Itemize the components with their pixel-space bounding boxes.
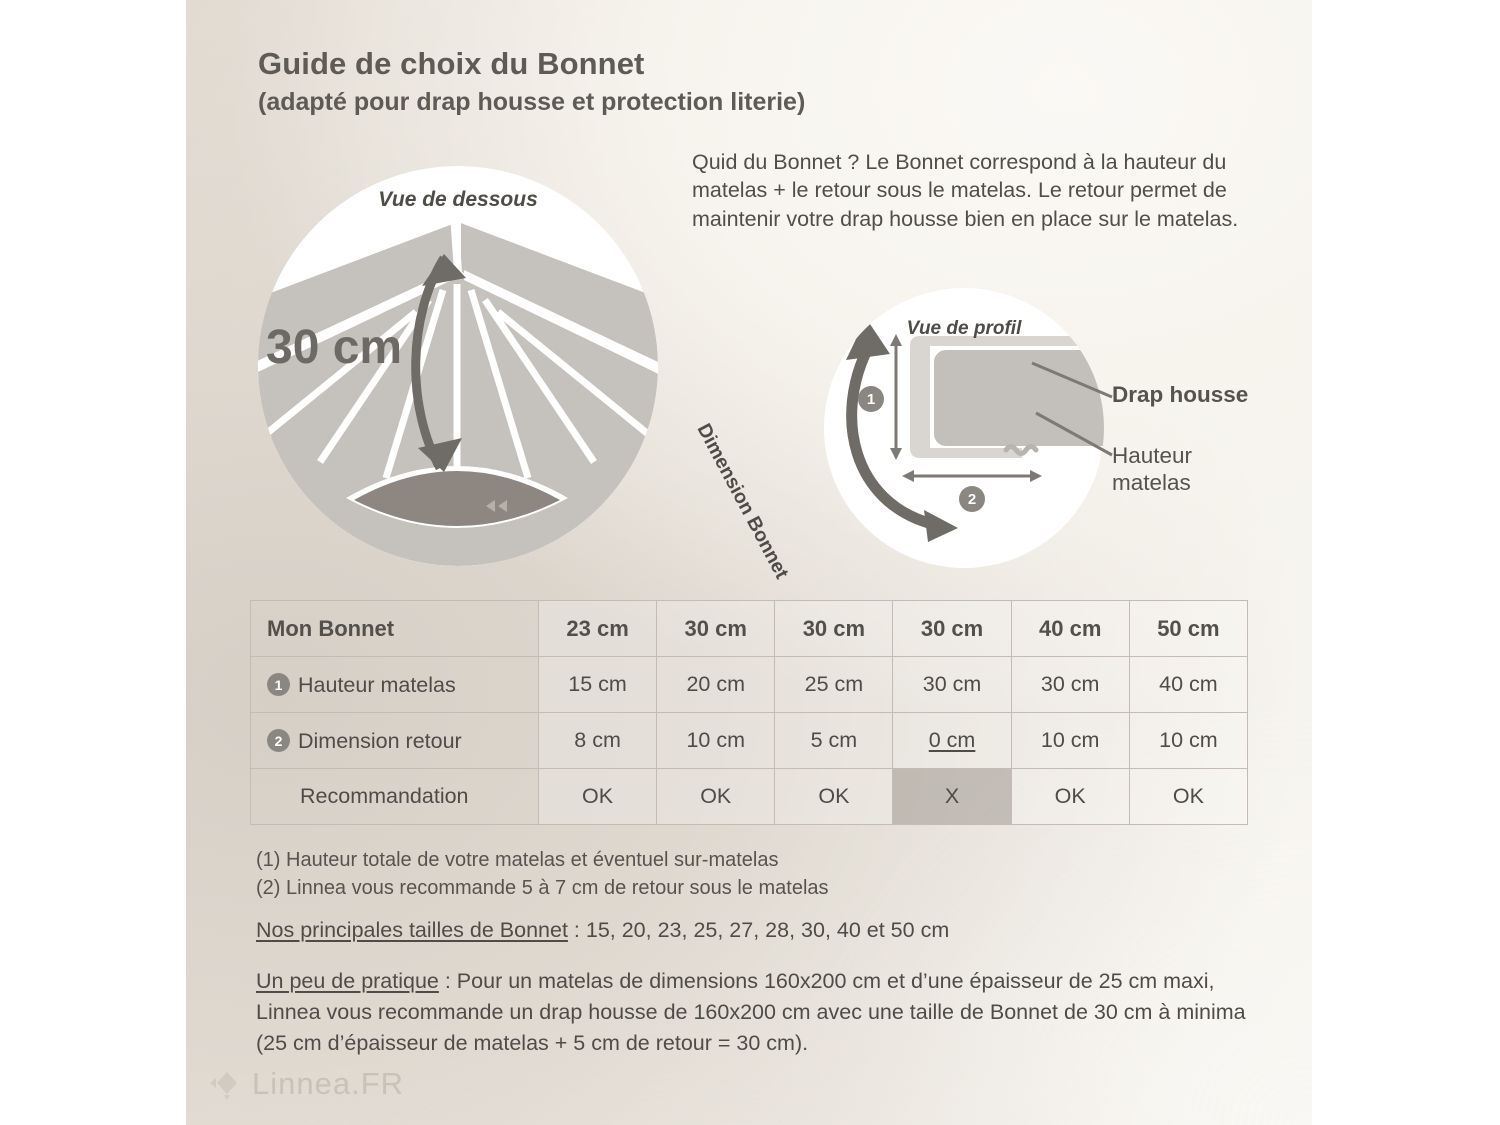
callout-drap-housse: Drap housse [1112,382,1248,408]
table-rowhead-mattress-height: 1Hauteur matelas [251,657,539,713]
bottom-view-label: Vue de dessous [258,188,658,212]
logo-text: Linnea.FR [252,1066,404,1102]
table-cell-bonnet-5: 50 cm [1129,601,1247,657]
table-cell-height-0: 15 cm [539,657,657,713]
table-cell-return-3: 0 cm [893,713,1011,769]
sizes-line: Nos principales tailles de Bonnet : 15, … [256,918,1256,943]
callout-hauteur-matelas: Hauteur matelas [1112,442,1192,496]
bottom-view-measure: 30 cm [266,320,446,375]
profile-marker-2: 2 [959,486,985,512]
practice-paragraph: Un peu de pratique : Pour un matelas de … [256,966,1256,1059]
sizes-value: : 15, 20, 23, 25, 27, 28, 30, 40 et 50 c… [568,918,949,942]
table-cell-reco-5: OK [1129,769,1247,825]
table-cell-height-1: 20 cm [657,657,775,713]
table-cell-return-2: 5 cm [775,713,893,769]
table-cell-bonnet-3: 30 cm [893,601,1011,657]
table-rowhead-bonnet: Mon Bonnet [251,601,539,657]
table-cell-height-2: 25 cm [775,657,893,713]
rowhead-label: Mon Bonnet [267,616,394,641]
table-cell-reco-0: OK [539,769,657,825]
table-cell-reco-4: OK [1011,769,1129,825]
return-underlined-value: 0 cm [929,728,976,752]
page-title: Guide de choix du Bonnet [258,48,1158,79]
brand-logo: Linnea.FR [208,1066,404,1102]
intro-paragraph: Quid du Bonnet ? Le Bonnet correspond à … [692,148,1272,233]
bonnet-table: Mon Bonnet 23 cm 30 cm 30 cm 30 cm 40 cm… [250,600,1248,825]
table-rowhead-return-dimension: 2Dimension retour [251,713,539,769]
row-badge-2: 2 [267,729,290,752]
infographic-root: Guide de choix du Bonnet (adapté pour dr… [0,0,1500,1125]
page-subtitle: (adapté pour drap housse et protection l… [258,90,1158,115]
table-cell-height-5: 40 cm [1129,657,1247,713]
sizes-label: Nos principales tailles de Bonnet [256,918,568,942]
table-cell-return-0: 8 cm [539,713,657,769]
table-cell-bonnet-4: 40 cm [1011,601,1129,657]
table-cell-return-5: 10 cm [1129,713,1247,769]
table-cell-reco-3: X [893,769,1011,825]
table-cell-height-4: 30 cm [1011,657,1129,713]
practice-label: Un peu de pratique [256,969,439,993]
callout-hauteur-line1: Hauteur [1112,442,1192,469]
rowhead-label: Hauteur matelas [298,672,456,696]
profile-marker-1: 1 [858,386,884,412]
rowhead-label: Recommandation [300,784,469,808]
table-cell-bonnet-2: 30 cm [775,601,893,657]
table-row-return-dimension: 2Dimension retour 8 cm 10 cm 5 cm 0 cm 1… [251,713,1248,769]
table-row-mattress-height: 1Hauteur matelas 15 cm 20 cm 25 cm 30 cm… [251,657,1248,713]
footnote-2: (2) Linnea vous recommande 5 à 7 cm de r… [256,874,1206,902]
linnea-diamond-icon [208,1067,242,1101]
table-cell-return-4: 10 cm [1011,713,1129,769]
table-cell-bonnet-1: 30 cm [657,601,775,657]
table-row-header: Mon Bonnet 23 cm 30 cm 30 cm 30 cm 40 cm… [251,601,1248,657]
table-cell-bonnet-0: 23 cm [539,601,657,657]
row-badge-1: 1 [267,673,290,696]
rowhead-label: Dimension retour [298,728,462,752]
callout-hauteur-line2: matelas [1112,469,1192,496]
table-row-recommendation: Recommandation OK OK OK X OK OK [251,769,1248,825]
diagram-bottom-view: Vue de dessous 30 cm [258,166,658,566]
table-cell-reco-1: OK [657,769,775,825]
table-cell-return-1: 10 cm [657,713,775,769]
table-rowhead-recommendation: Recommandation [251,769,539,825]
footnotes: (1) Hauteur totale de votre matelas et é… [256,846,1206,903]
footnote-1: (1) Hauteur totale de votre matelas et é… [256,846,1206,874]
table-cell-reco-2: OK [775,769,893,825]
table-cell-height-3: 30 cm [893,657,1011,713]
profile-view-label: Vue de profil [824,318,1104,340]
